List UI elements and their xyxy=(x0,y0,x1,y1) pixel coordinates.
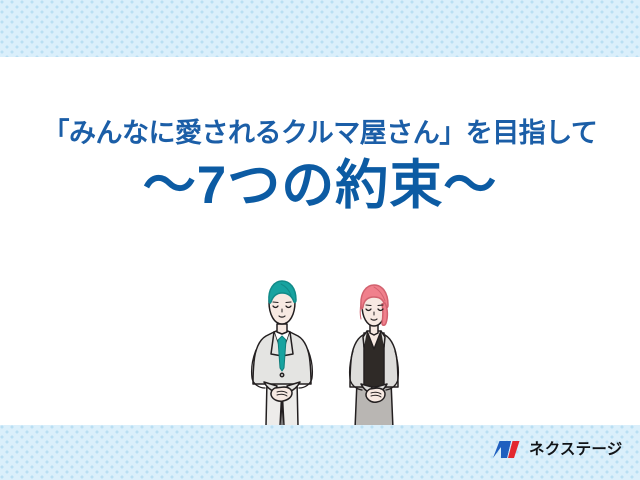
female-staff-figure xyxy=(350,285,399,425)
top-dotted-band xyxy=(0,0,640,57)
staff-illustration-svg xyxy=(237,276,417,425)
nextage-logo-text: ネクステージ xyxy=(529,442,622,458)
two-bowing-staff-illustration xyxy=(237,276,417,425)
male-staff-figure xyxy=(252,281,313,425)
headline-title: 〜7つの約束〜 xyxy=(0,159,640,212)
slide-root: 「みんなに愛されるクルマ屋さん」を目指して 〜7つの約束〜 xyxy=(0,0,640,480)
headline-subtitle: 「みんなに愛されるクルマ屋さん」を目指して xyxy=(0,118,640,148)
headline-block: 「みんなに愛されるクルマ屋さん」を目指して 〜7つの約束〜 xyxy=(0,118,640,212)
nextage-n-mark-icon xyxy=(492,439,522,461)
nextage-logo: ネクステージ xyxy=(492,439,622,461)
